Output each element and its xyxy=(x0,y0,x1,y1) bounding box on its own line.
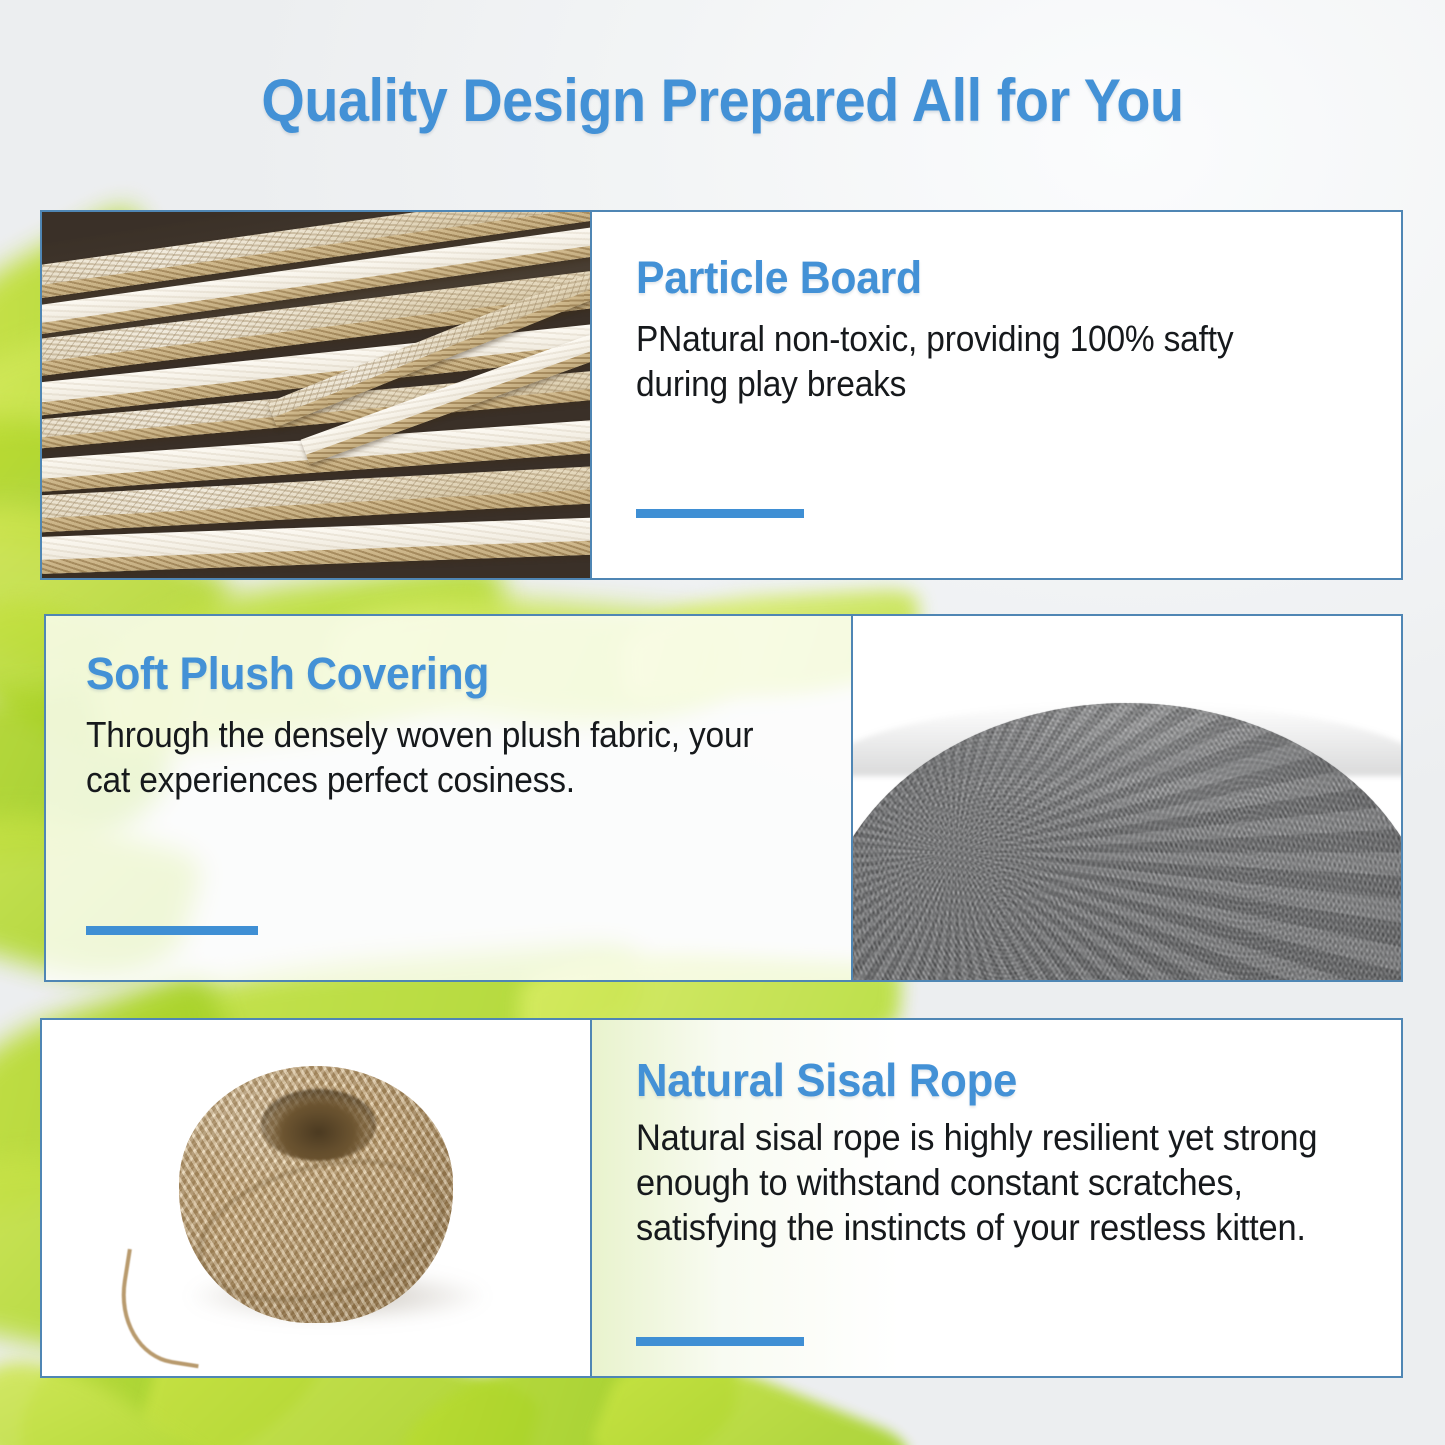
card-title-natural-sisal-rope: Natural Sisal Rope xyxy=(636,1056,1338,1104)
accent-bar xyxy=(636,1337,804,1346)
feature-card-natural-sisal-rope: Natural Sisal Rope Natural sisal rope is… xyxy=(40,1018,1403,1378)
particle-board-image xyxy=(42,212,590,578)
sisal-rope-text: Natural Sisal Rope Natural sisal rope is… xyxy=(592,1020,1401,1376)
card-body-soft-plush-covering: Through the densely woven plush fabric, … xyxy=(86,713,770,802)
soft-plush-text: Soft Plush Covering Through the densely … xyxy=(46,616,851,980)
card-body-natural-sisal-rope: Natural sisal rope is highly resilient y… xyxy=(636,1116,1323,1250)
card-body-particle-board: PNatural non-toxic, providing 100% safty… xyxy=(636,317,1310,406)
card-title-soft-plush-covering: Soft Plush Covering xyxy=(86,650,784,697)
card-title-particle-board: Particle Board xyxy=(636,254,1325,301)
page-title: Quality Design Prepared All for You xyxy=(51,66,1395,135)
plush-fabric-image xyxy=(853,616,1401,980)
feature-card-particle-board: Particle Board PNatural non-toxic, provi… xyxy=(40,210,1403,580)
feature-card-soft-plush-covering: Soft Plush Covering Through the densely … xyxy=(44,614,1403,982)
accent-bar xyxy=(636,509,804,518)
particle-board-text: Particle Board PNatural non-toxic, provi… xyxy=(592,212,1401,578)
accent-bar xyxy=(86,926,258,935)
sisal-rope-image xyxy=(42,1020,590,1376)
